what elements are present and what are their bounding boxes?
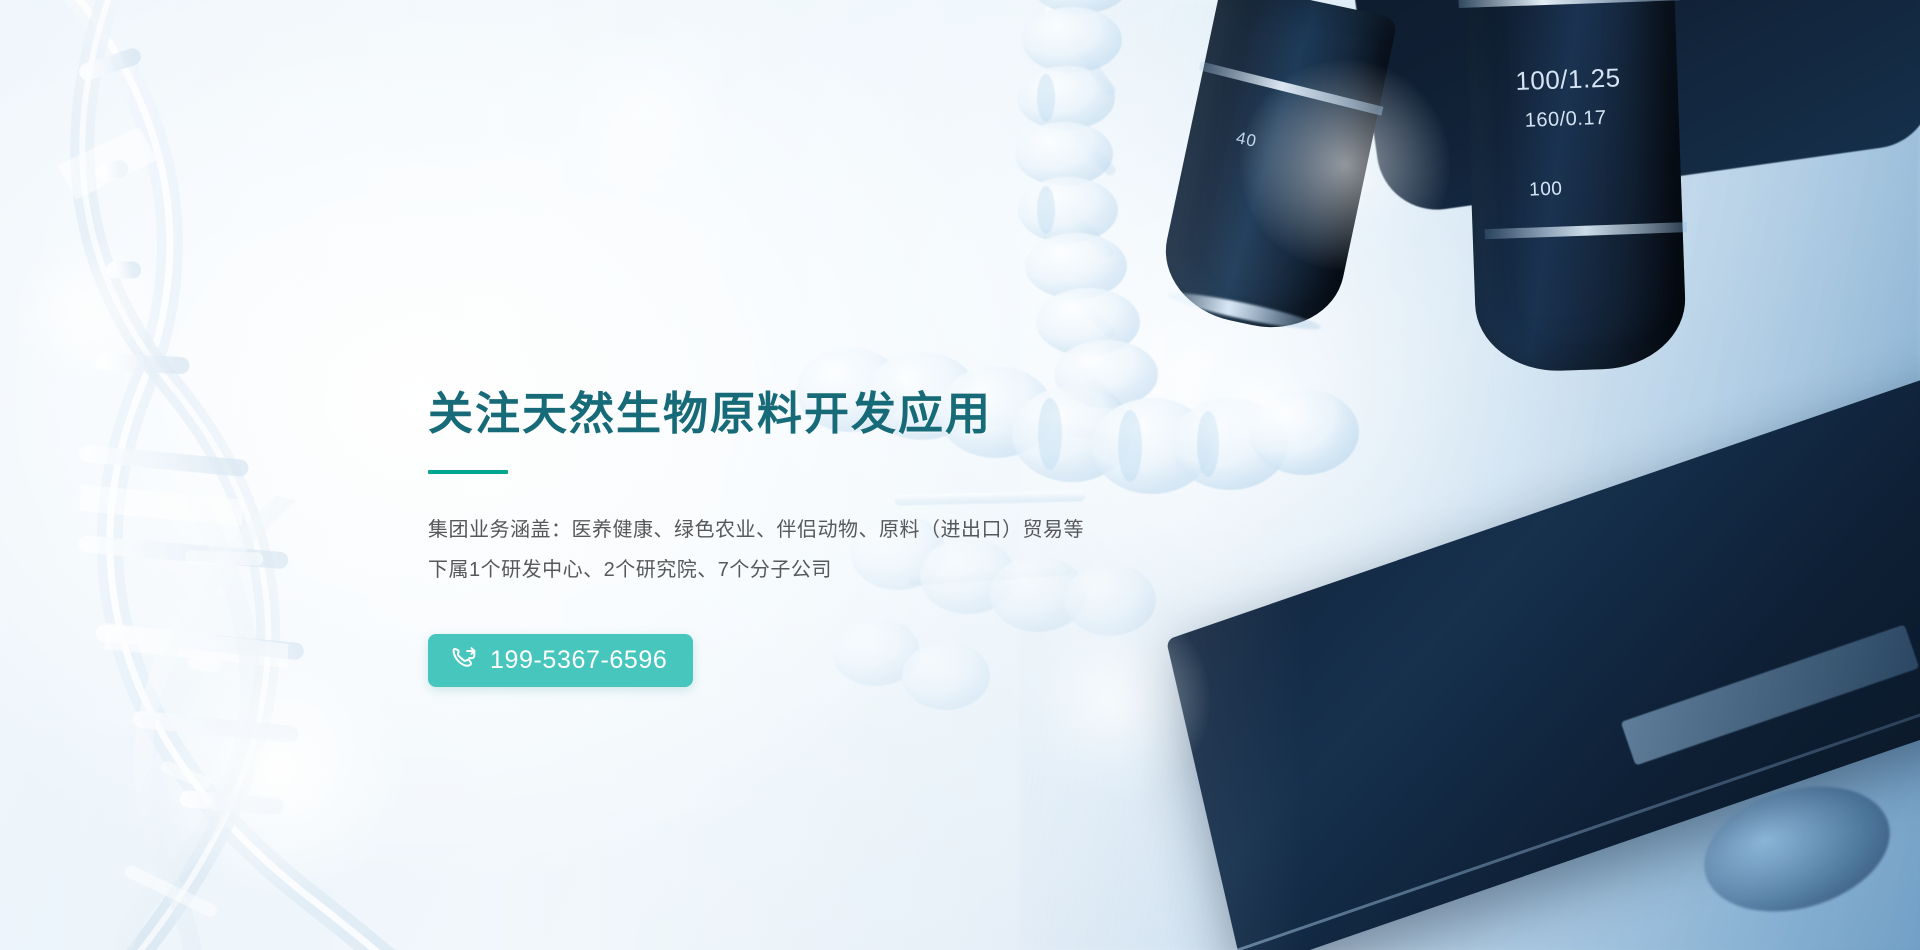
contact-phone-button[interactable]: 199-5367-6596 <box>428 634 693 687</box>
hero-divider <box>428 470 508 474</box>
phone-forward-icon <box>450 646 478 674</box>
hero-description-line-2: 下属1个研发中心、2个研究院、7个分子公司 <box>428 550 1188 590</box>
hero-description-line-1: 集团业务涵盖：医养健康、绿色农业、伴侣动物、原料（进出口）贸易等 <box>428 510 1188 550</box>
hero-description: 集团业务涵盖：医养健康、绿色农业、伴侣动物、原料（进出口）贸易等 下属1个研发中… <box>428 510 1188 590</box>
hero-title: 关注天然生物原料开发应用 <box>428 388 1188 440</box>
hero-banner: 40 100/1.25 160/0.17 100 关注天然生物原料开发应用 集团… <box>0 0 1920 950</box>
contact-phone-number: 199-5367-6596 <box>490 646 667 675</box>
hero-content: 关注天然生物原料开发应用 集团业务涵盖：医养健康、绿色农业、伴侣动物、原料（进出… <box>428 388 1188 687</box>
